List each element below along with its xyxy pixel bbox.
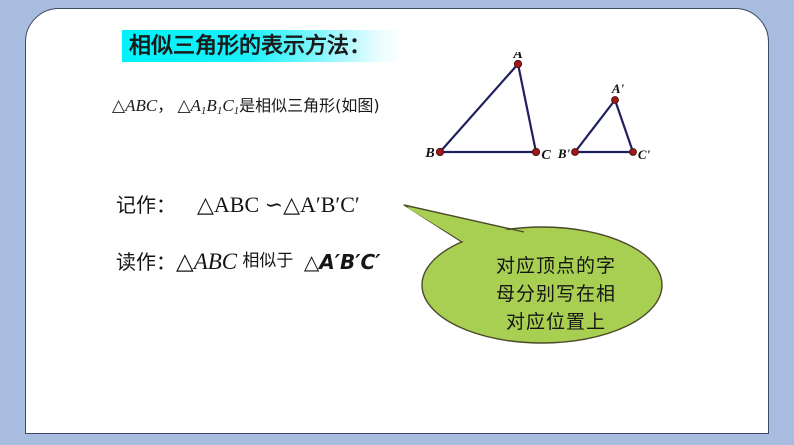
vertex-C-prime-dot	[630, 149, 637, 156]
callout-text: 对应顶点的字 母分别写在相 对应位置上	[461, 252, 651, 336]
vertex-A-prime-dot	[612, 97, 619, 104]
reading-triangle-2: △A′B′C′	[304, 250, 381, 274]
vertex-A-label: A	[512, 52, 522, 62]
callout-line-1: 对应顶点的字	[461, 252, 651, 280]
vertex-B-label: B	[424, 146, 434, 161]
notation-line: 记作： △ABC ∽△A′B′C′	[116, 190, 360, 220]
vertex-C-label: C	[541, 148, 551, 163]
notation-lead-label: 记作：	[116, 193, 176, 217]
vertex-B-prime-dot	[572, 149, 579, 156]
reading-line: 读作：△ABC 相似于 △A′B′C′	[116, 245, 381, 278]
vertex-B-prime-label: B'	[557, 146, 571, 161]
statement-triangle-2-label-a: A	[191, 96, 201, 115]
triangle-ABC-shape	[440, 64, 536, 152]
page-title: 相似三角形的表示方法：	[129, 31, 371, 61]
statement-tail-text: 是相似三角形(如图)	[239, 96, 380, 115]
statement-triangle-1-label: ABC	[125, 96, 157, 115]
triangles-figure: A B C A' B' C'	[420, 52, 670, 172]
statement-line: △ABC， △A1B1C1是相似三角形(如图)	[112, 95, 380, 122]
reading-triangle-1: △ABC	[176, 249, 237, 274]
statement-triangle-2-symbol: △	[177, 96, 190, 115]
triangle-A-prime-B-prime-C-prime-shape	[575, 100, 633, 152]
callout-line-2: 母分别写在相	[461, 280, 651, 308]
reading-lead-label: 读作：	[116, 250, 176, 274]
vertex-B-dot	[436, 148, 443, 155]
statement-triangle-1-symbol: △	[112, 96, 125, 115]
vertex-C-dot	[532, 148, 539, 155]
notation-expression: △ABC ∽△A′B′C′	[197, 192, 360, 217]
statement-comma: ，	[157, 96, 173, 115]
slide-root: 相似三角形的表示方法： △ABC， △A1B1C1是相似三角形(如图) A B …	[0, 0, 794, 445]
statement-triangle-2-label-c: C	[222, 96, 233, 115]
vertex-A-prime-label: A'	[611, 81, 625, 96]
vertex-C-prime-label: C'	[638, 147, 651, 162]
callout-line-3: 对应位置上	[461, 308, 651, 336]
reading-middle-text: 相似于	[242, 251, 293, 271]
statement-triangle-2-label-b: B	[206, 96, 216, 115]
